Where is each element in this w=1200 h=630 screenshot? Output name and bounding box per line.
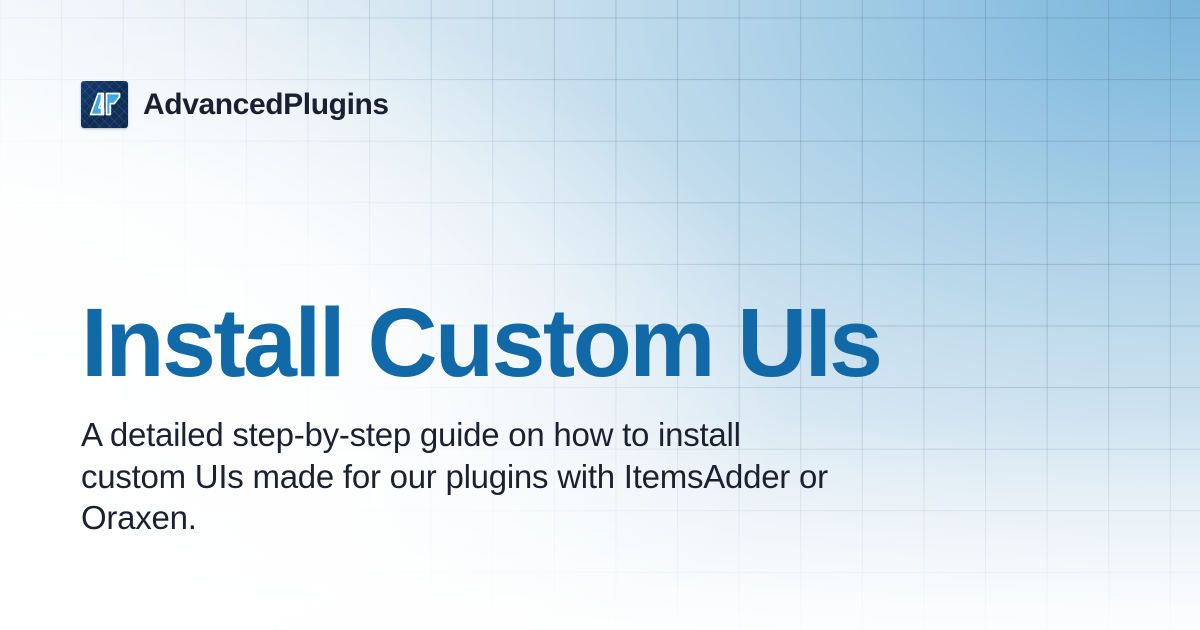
- page-subtitle: A detailed step-by-step guide on how to …: [81, 391, 851, 539]
- page-title: Install Custom UIs: [81, 294, 1081, 391]
- ap-monogram-logo-icon: [81, 81, 128, 128]
- headline-block: Install Custom UIs A detailed step-by-st…: [81, 294, 1081, 539]
- brand-lockup: AdvancedPlugins: [81, 81, 389, 128]
- brand-name: AdvancedPlugins: [143, 90, 389, 120]
- card-content: AdvancedPlugins Install Custom UIs A det…: [0, 0, 1200, 630]
- og-card: AdvancedPlugins Install Custom UIs A det…: [0, 0, 1200, 630]
